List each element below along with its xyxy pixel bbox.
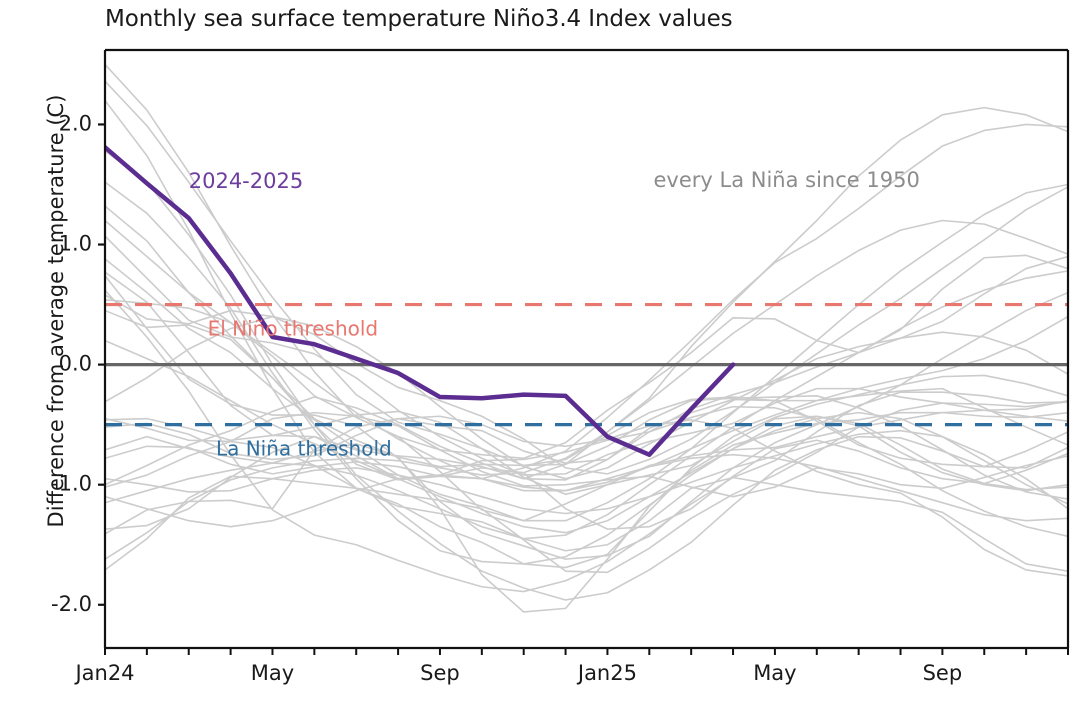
x-tick-label: Jan24 (73, 661, 134, 685)
ensemble-line (105, 64, 1068, 458)
highlight-series-label: 2024-2025 (189, 169, 303, 193)
el-nino-threshold-label: El Niño threshold (208, 316, 379, 340)
x-tick-label: May (251, 661, 294, 685)
y-tick-label: 0.0 (59, 352, 92, 376)
la-nina-threshold-label: La Niña threshold (216, 436, 392, 460)
ensemble-line (105, 271, 1068, 539)
x-tick-label: Sep (923, 661, 963, 685)
y-tick-label: 2.0 (59, 111, 92, 135)
y-tick-label: 1.0 (59, 232, 92, 256)
plot-area: 2024-2025every La Niña since 1950El Niño… (0, 0, 1088, 701)
y-tick-label: -1.0 (51, 472, 92, 496)
ensemble-line (105, 151, 1068, 600)
x-tick-label: May (753, 661, 796, 685)
x-tick-label: Sep (420, 661, 460, 685)
chart-figure: Monthly sea surface temperature Niño3.4 … (0, 0, 1088, 701)
ensemble-label: every La Niña since 1950 (653, 168, 919, 192)
y-tick-label: -2.0 (51, 592, 92, 616)
x-tick-label: Jan25 (576, 661, 637, 685)
